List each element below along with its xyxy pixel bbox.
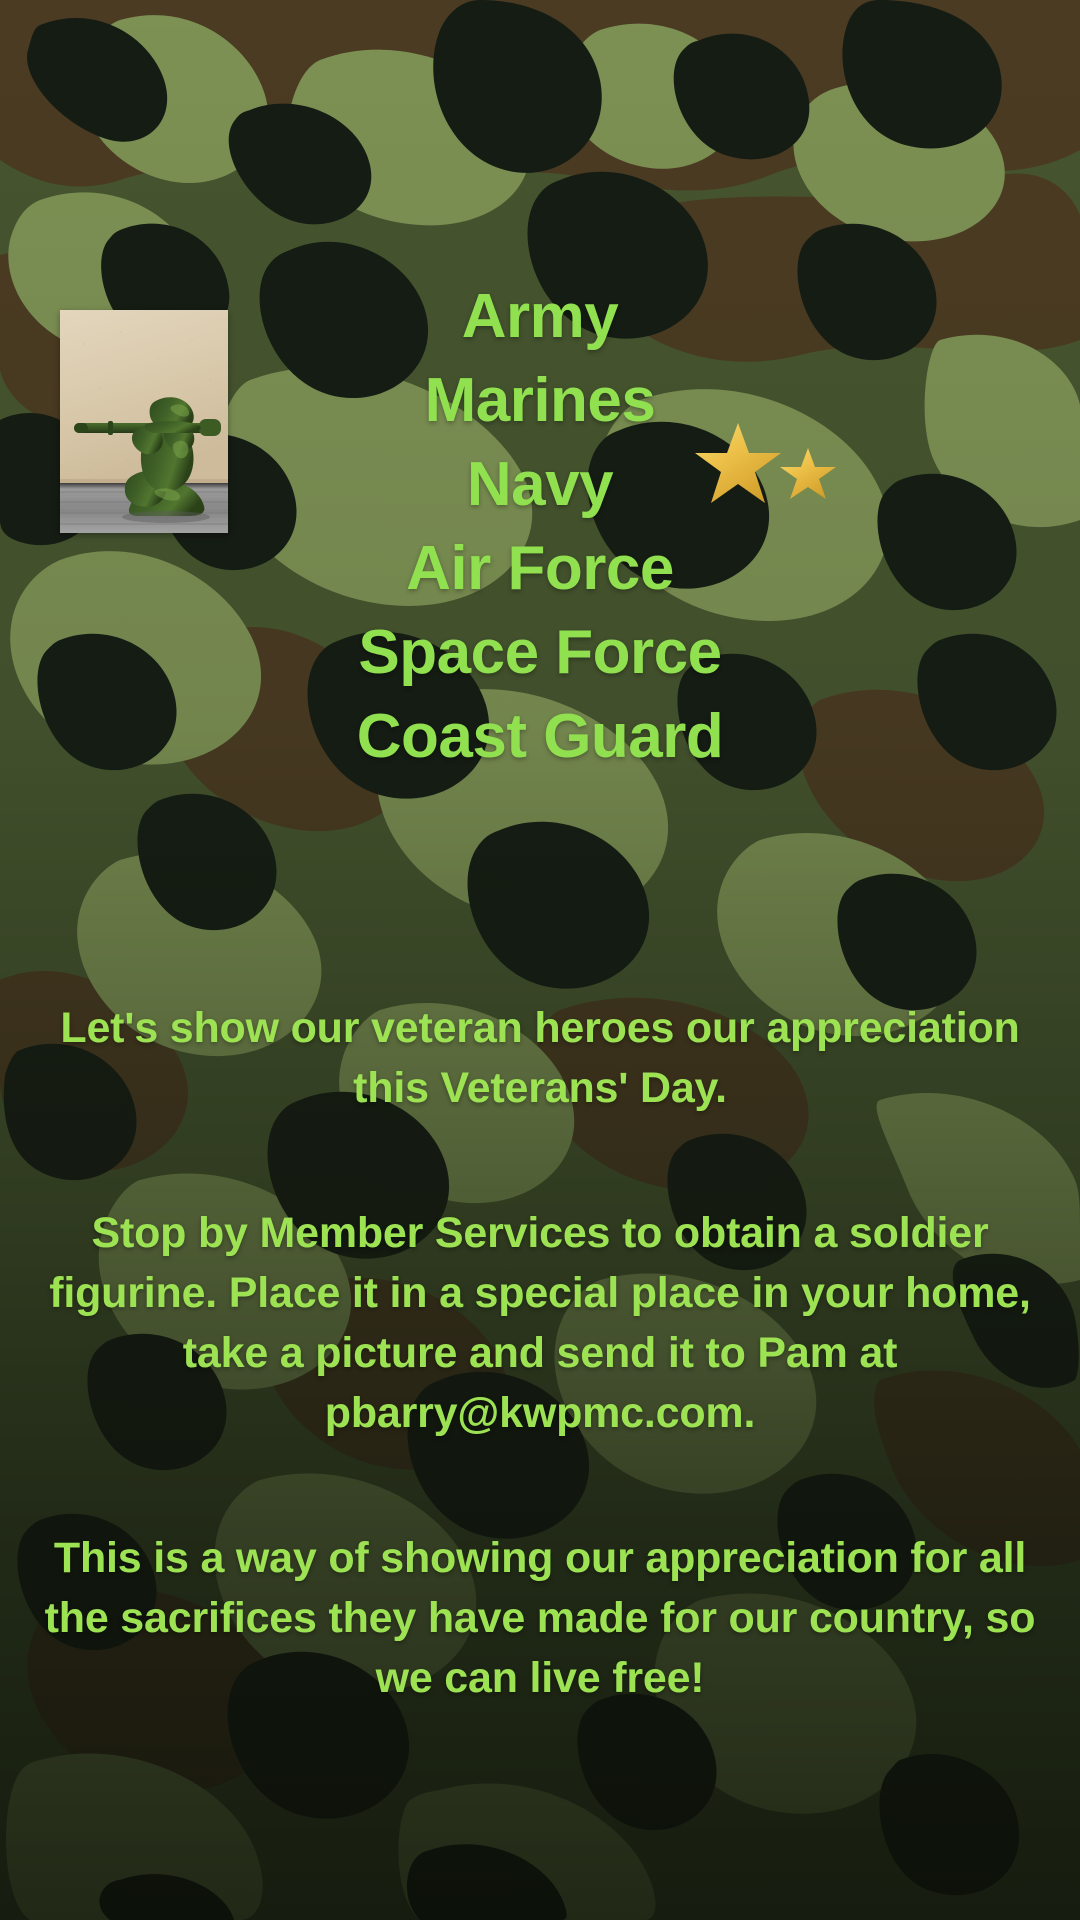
branch-line-air-force: Air Force (0, 527, 1080, 611)
paragraph-instructions: Stop by Member Services to obtain a sold… (28, 1203, 1052, 1443)
military-branch-list: Army Marines Navy Air Force Space Force … (0, 275, 1080, 779)
paragraph-closing: This is a way of showing our appreciatio… (28, 1528, 1052, 1708)
veterans-day-poster: Army Marines Navy Air Force Space Force … (0, 0, 1080, 1920)
paragraph-appreciation: Let's show our veteran heroes our apprec… (28, 998, 1052, 1118)
branch-line-navy: Navy (0, 443, 1080, 527)
branch-line-marines: Marines (0, 359, 1080, 443)
branch-line-army: Army (0, 275, 1080, 359)
branch-line-space-force: Space Force (0, 611, 1080, 695)
branch-line-coast-guard: Coast Guard (0, 695, 1080, 779)
flyer-body-copy: Let's show our veteran heroes our apprec… (28, 955, 1052, 1751)
